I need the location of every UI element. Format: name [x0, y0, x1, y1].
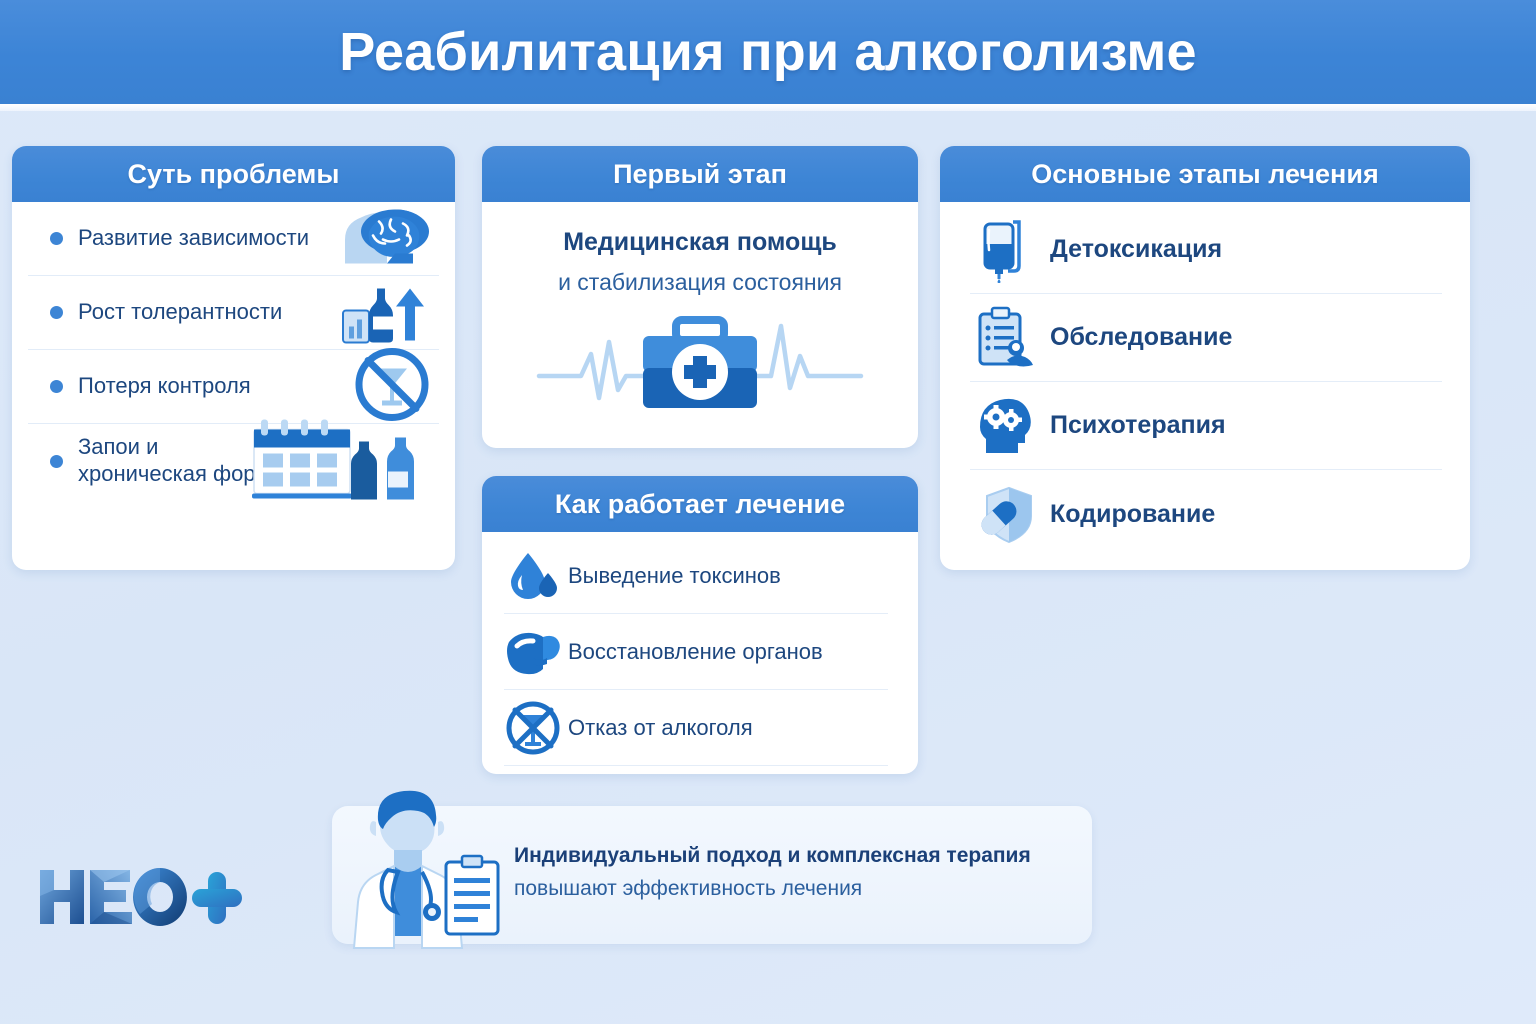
header-divider: [0, 104, 1536, 111]
card-stages-body: Детоксикация Обследование: [940, 202, 1470, 558]
bullet-icon: [50, 306, 63, 319]
pill-shield-icon: [970, 484, 1042, 544]
neo-plus-logo[interactable]: [36, 862, 256, 932]
first-aid-kit-heartbeat-icon: [482, 310, 918, 418]
card-problem-header: Суть проблемы: [12, 146, 455, 202]
list-item[interactable]: Рост толерантности: [28, 276, 439, 350]
card-how-treatment-works: Как работает лечение Выведение токсинов: [482, 476, 918, 774]
first-stage-line-1: Медицинская помощь: [482, 228, 918, 257]
card-how-works-body: Выведение токсинов Восстановление органо…: [482, 532, 918, 766]
card-how-works-title: Как работает лечение: [555, 489, 845, 520]
bullet-icon: [50, 232, 63, 245]
list-item[interactable]: Развитие зависимости: [28, 202, 439, 276]
card-first-stage-title: Первый этап: [613, 159, 787, 190]
no-alcohol-icon: [504, 700, 562, 756]
list-item-label: Обследование: [1050, 323, 1232, 352]
card-first-stage-body: Медицинская помощь и стабилизация состоя…: [482, 202, 918, 418]
list-item-label: Восстановление органов: [568, 639, 823, 665]
list-item[interactable]: Отказ от алкоголя: [504, 690, 888, 766]
liver-icon: [504, 628, 562, 676]
calendar-bottles-icon: [240, 414, 435, 509]
doctor-with-clipboard-icon: [322, 784, 512, 959]
list-item[interactable]: Детоксикация: [970, 206, 1442, 294]
list-item-label: Кодирование: [1050, 500, 1215, 529]
brain-head-icon: [339, 205, 435, 272]
list-item-label: Психотерапия: [1050, 411, 1226, 440]
list-item[interactable]: Выведение токсинов: [504, 538, 888, 614]
card-problem-title: Суть проблемы: [128, 159, 340, 190]
list-item[interactable]: Обследование: [970, 294, 1442, 382]
water-drop-icon: [504, 549, 562, 603]
banner-line-1: Индивидуальный подход и комплексная тера…: [514, 844, 1031, 868]
list-item-label: Детоксикация: [1050, 235, 1222, 264]
head-gears-icon: [970, 393, 1042, 459]
list-item-label: Выведение токсинов: [568, 563, 781, 589]
list-item-label: Развитие зависимости: [78, 225, 309, 252]
card-first-stage: Первый этап Медицинская помощь и стабили…: [482, 146, 918, 448]
bottom-banner: Индивидуальный подход и комплексная тера…: [332, 806, 1092, 944]
list-item-label: Потеря контроля: [78, 373, 251, 400]
bottle-growth-arrow-icon: [339, 274, 435, 351]
iv-drip-bag-icon: [970, 216, 1042, 284]
list-item-label: Рост толерантности: [78, 299, 282, 326]
card-stages-title: Основные этапы лечения: [1031, 159, 1378, 190]
card-main-treatment-stages: Основные этапы лечения Детоксикация: [940, 146, 1470, 570]
card-first-stage-header: Первый этап: [482, 146, 918, 202]
bullet-icon: [50, 380, 63, 393]
list-item-label: Отказ от алкоголя: [568, 715, 753, 741]
card-stages-header: Основные этапы лечения: [940, 146, 1470, 202]
card-problem-essence: Суть проблемы Развитие зависимости Рост …: [12, 146, 455, 570]
bullet-icon: [50, 455, 63, 468]
list-item[interactable]: Запои и хроническая форма: [28, 424, 439, 498]
page-title: Реабилитация при алкоголизме: [339, 21, 1197, 83]
card-how-works-header: Как работает лечение: [482, 476, 918, 532]
card-problem-body: Развитие зависимости Рост толерантности: [12, 202, 455, 498]
list-item[interactable]: Восстановление органов: [504, 614, 888, 690]
list-item[interactable]: Кодирование: [970, 470, 1442, 558]
list-item[interactable]: Психотерапия: [970, 382, 1442, 470]
banner-text-block: Индивидуальный подход и комплексная тера…: [514, 844, 1031, 901]
page-header: Реабилитация при алкоголизме: [0, 0, 1536, 104]
clipboard-checkup-icon: [970, 306, 1042, 370]
first-stage-line-2: и стабилизация состояния: [482, 269, 918, 296]
banner-line-2: повышают эффективность лечения: [514, 877, 1031, 901]
